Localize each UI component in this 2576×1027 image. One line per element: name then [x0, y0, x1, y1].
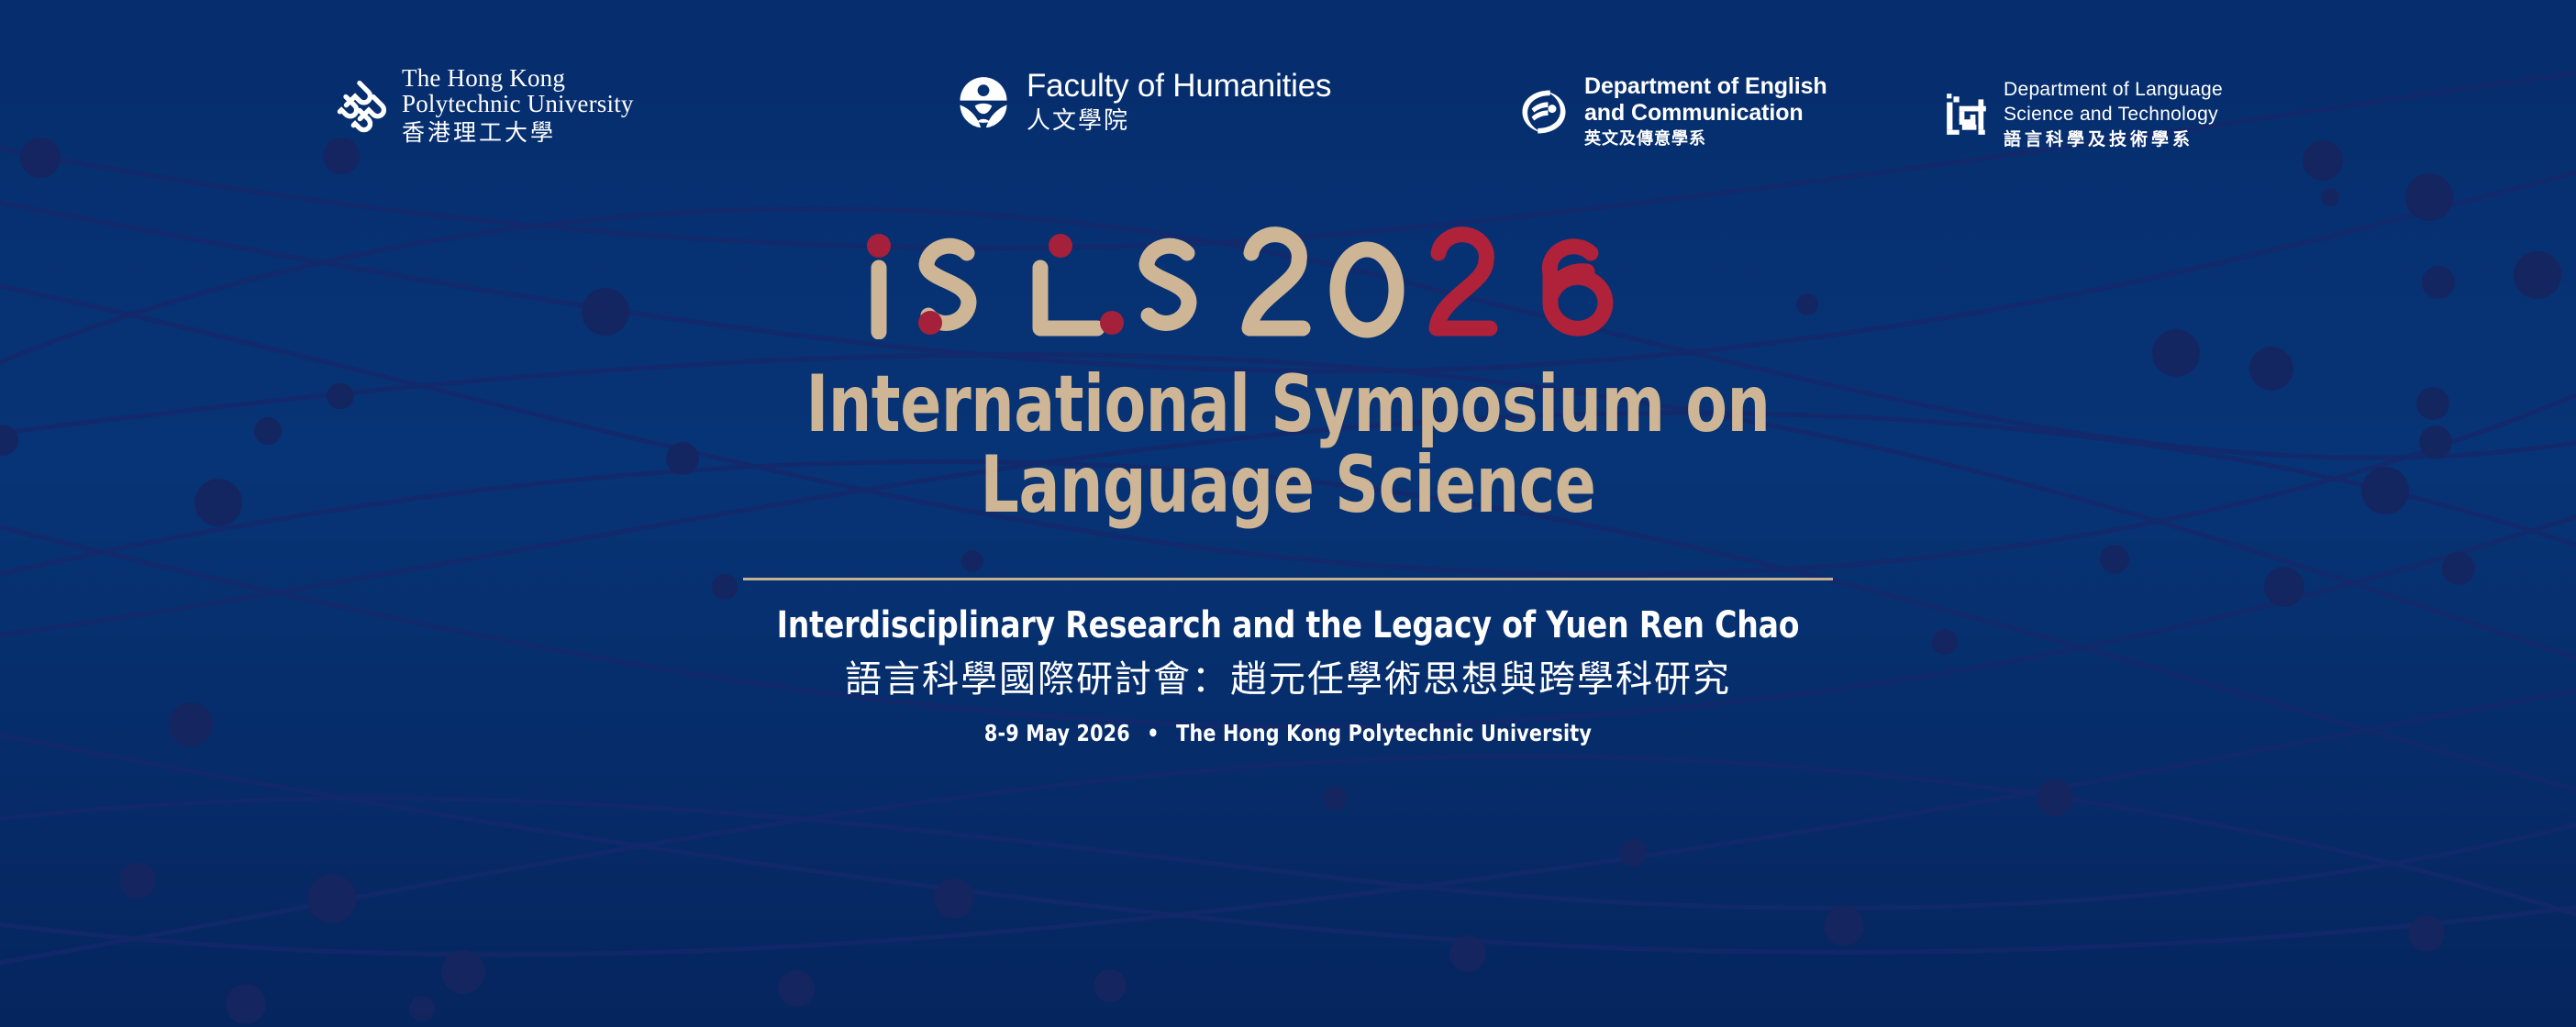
logo-lst-en-line1: Department of Language — [2004, 77, 2223, 102]
logo-faculty-of-humanities[interactable]: Faculty of Humanities 人文學院 — [957, 70, 1331, 136]
partner-logo-row: The Hong Kong Polytechnic University 香港理… — [0, 57, 2576, 167]
event-meta: 8-9 May 2026 • The Hong Kong Polytechnic… — [103, 720, 2472, 746]
title-line-1: International Symposium on — [181, 365, 2396, 446]
page-title: International Symposium on Language Scie… — [181, 365, 2396, 525]
event-venue: The Hong Kong Polytechnic University — [1176, 720, 1592, 746]
logo-polyu-en-line1: The Hong Kong — [402, 66, 634, 92]
polyu-knot-icon — [330, 78, 387, 135]
logo-foh-zh: 人文學院 — [1027, 106, 1331, 137]
event-separator: • — [1137, 720, 1170, 746]
logo-foh-en: Faculty of Humanities — [1027, 70, 1331, 104]
english-communication-swirl-icon — [1518, 86, 1570, 138]
event-dates: 8-9 May 2026 — [984, 720, 1130, 746]
logo-lst-zh: 語言科學及技術學系 — [2004, 128, 2223, 151]
logo-dept-language-science-technology[interactable]: Department of Language Science and Techn… — [1943, 77, 2223, 150]
logo-lst-en-line2: Science and Technology — [2004, 102, 2223, 127]
lst-monogram-icon — [1943, 90, 1991, 138]
logo-polyu-en-line2: Polytechnic University — [402, 92, 634, 117]
humanities-circle-icon — [957, 76, 1010, 129]
title-line-2: Language Science — [181, 446, 2396, 526]
logo-engl-zh: 英文及傳意學系 — [1584, 128, 1827, 149]
logo-polyu-zh: 香港理工大學 — [402, 118, 634, 147]
logo-engl-en-line2: and Communication — [1584, 100, 1827, 127]
logo-polyu[interactable]: The Hong Kong Polytechnic University 香港理… — [330, 66, 634, 147]
subtitle-english: Interdisciplinary Research and the Legac… — [103, 605, 2472, 646]
isls-2026-wordmark — [0, 220, 2576, 339]
wordmark-dots — [867, 234, 1124, 335]
subtitle-chinese: 語言科學國際研討會：趙元任學術思想與跨學科研究 — [0, 657, 2576, 703]
title-divider — [743, 578, 1833, 580]
conference-banner: The Hong Kong Polytechnic University 香港理… — [0, 0, 2576, 1027]
subtitle-block: Interdisciplinary Research and the Legac… — [0, 605, 2576, 746]
logo-engl-en-line1: Department of English — [1584, 73, 1827, 100]
logo-dept-english-communication[interactable]: Department of English and Communication … — [1518, 73, 1827, 149]
